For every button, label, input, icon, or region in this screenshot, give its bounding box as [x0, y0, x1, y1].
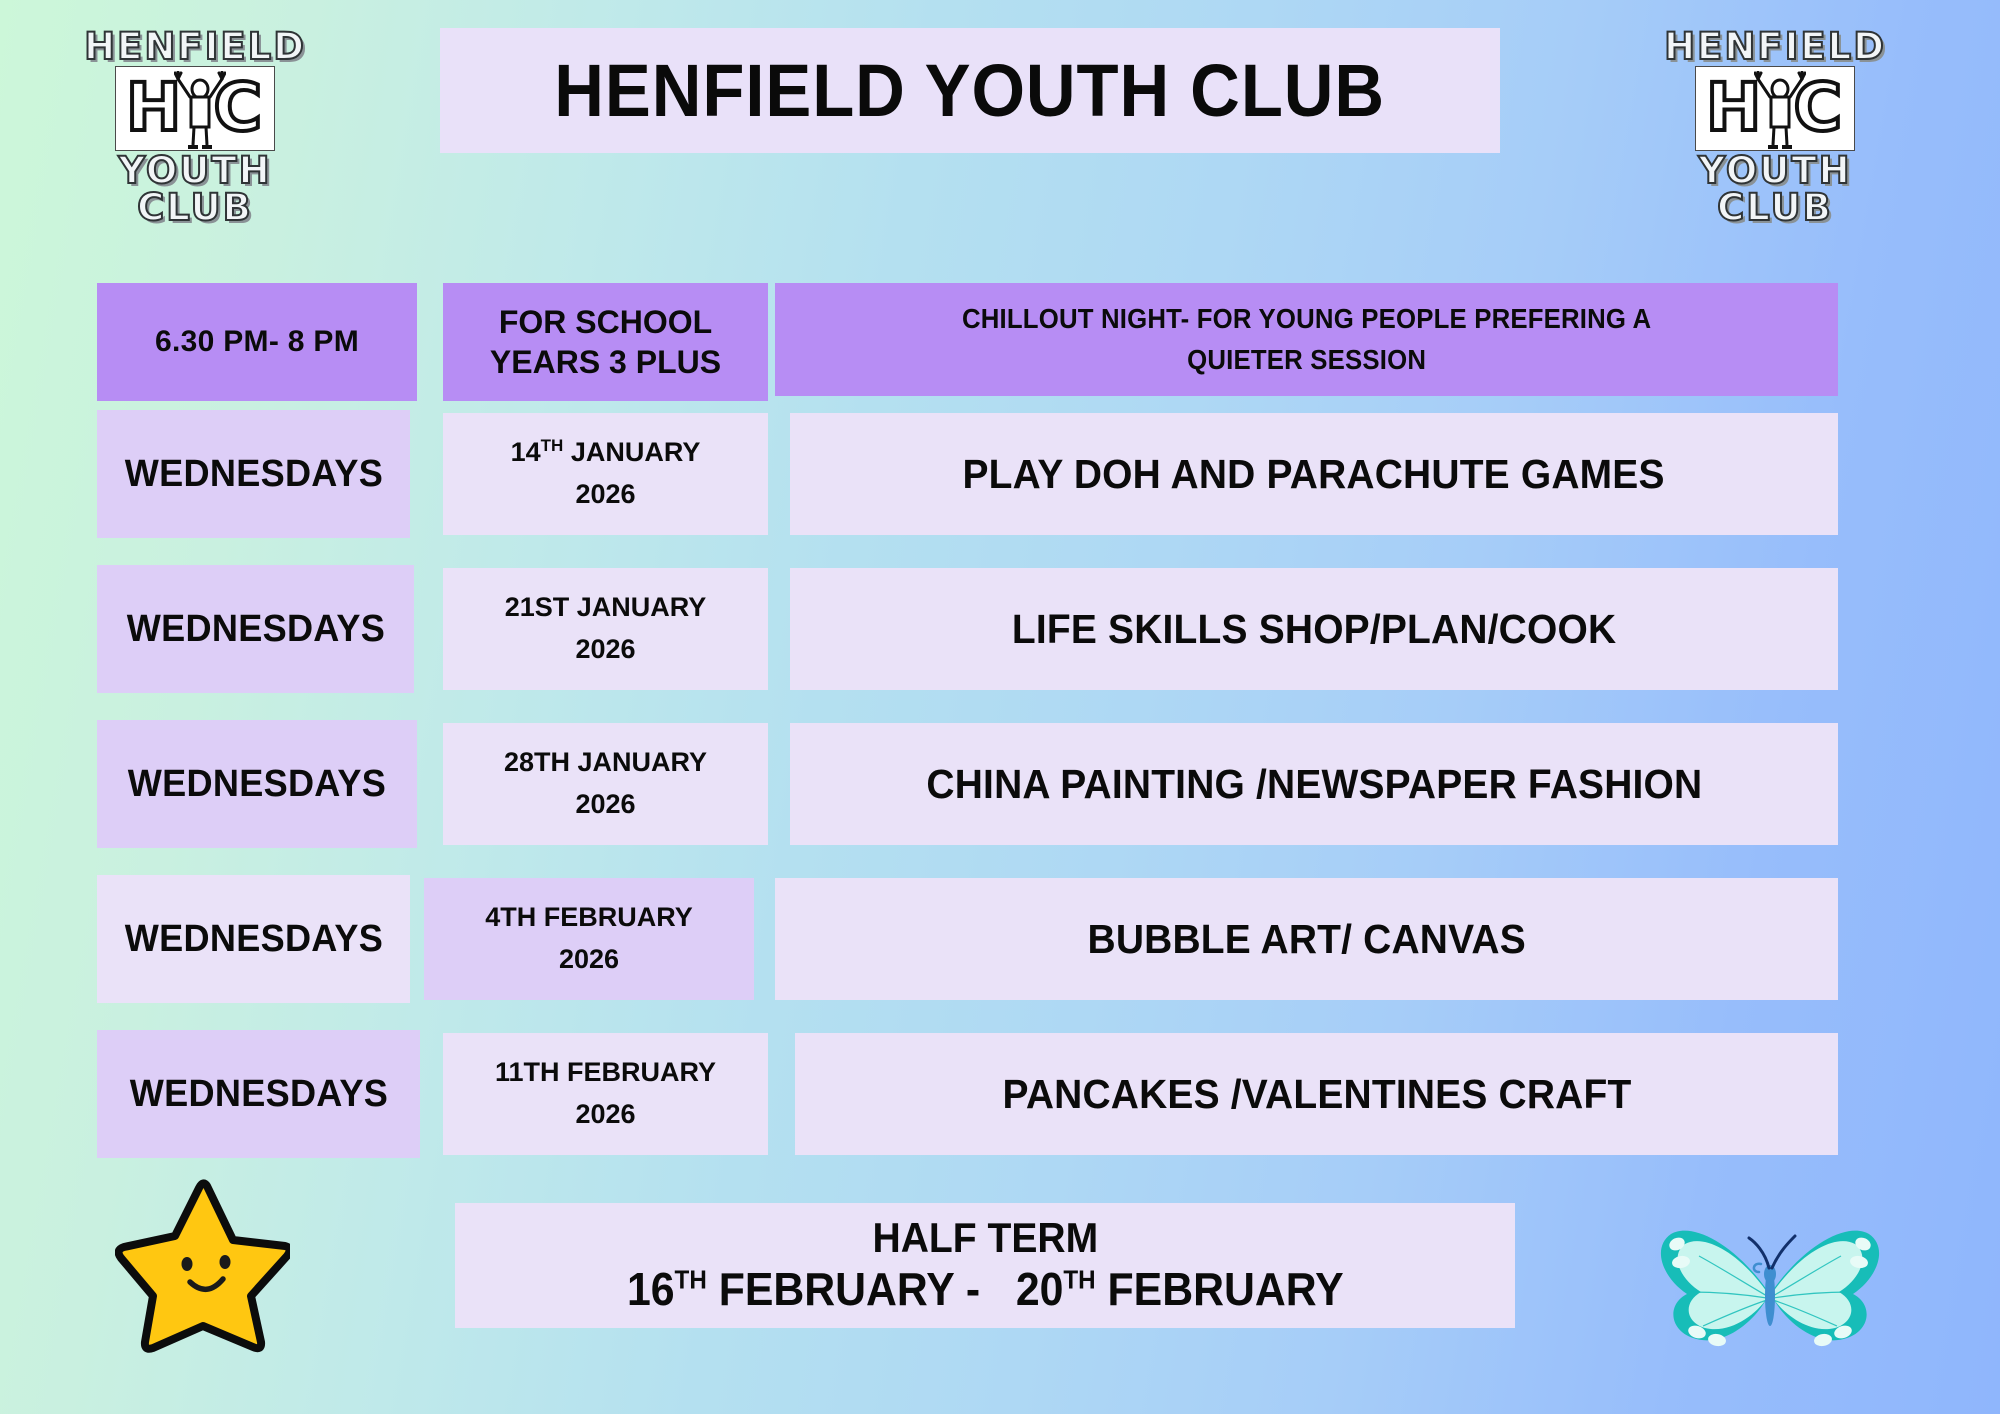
date-year: 2026	[575, 634, 635, 664]
page-title: HENFIELD YOUTH CLUB	[555, 48, 1386, 133]
activity-cell: LIFE SKILLS SHOP/PLAN/COOK	[790, 568, 1838, 690]
day-label: WEDNESDAYS	[126, 608, 384, 651]
person-cheering-icon	[1754, 71, 1806, 151]
table-row: WEDNESDAYS 21ST JANUARY2026 LIFE SKILLS …	[0, 563, 2000, 718]
day-cell: WEDNESDAYS	[97, 410, 410, 538]
table-row: WEDNESDAYS 4TH FEBRUARY2026 BUBBLE ART/ …	[0, 873, 2000, 1028]
activity-cell: PANCAKES /VALENTINES CRAFT	[795, 1033, 1838, 1155]
date-month: JANUARY	[563, 437, 700, 467]
chillout-note: CHILLOUT NIGHT- FOR YOUNG PEOPLE PREFERI…	[962, 299, 1651, 380]
half-term-start-month: FEBRUARY	[707, 1263, 954, 1315]
date-label: 11TH FEBRUARY2026	[495, 1052, 716, 1136]
chillout-note-line2: QUIETER SESSION	[1187, 344, 1426, 375]
logo-top-word: HENFIELD	[1650, 28, 1900, 65]
logo-bottom-word: YOUTH CLUB	[70, 152, 320, 226]
chillout-note-cell: CHILLOUT NIGHT- FOR YOUNG PEOPLE PREFERI…	[775, 283, 1838, 396]
activity-cell: CHINA PAINTING /NEWSPAPER FASHION	[790, 723, 1838, 845]
half-term-separator: -	[954, 1263, 1016, 1315]
half-term-end-day: 20	[1016, 1263, 1064, 1315]
table-row: WEDNESDAYS 14TH JANUARY2026 PLAY DOH AND…	[0, 408, 2000, 563]
date-month: FEBRUARY	[560, 1057, 717, 1087]
date-suffix: TH	[524, 1057, 560, 1087]
logo-letter-h: H	[1706, 75, 1761, 141]
half-term-end-month: FEBRUARY	[1095, 1263, 1343, 1315]
logo-right: HENFIELD H C YOUTH CLUB	[1650, 28, 1900, 226]
logo-letter-h: H	[126, 75, 181, 141]
logo-top-word: HENFIELD	[70, 28, 320, 65]
date-suffix: TH	[534, 747, 570, 777]
info-row: 6.30 PM- 8 PM FOR SCHOOL YEARS 3 PLUS CH…	[0, 283, 2000, 408]
date-label: 4TH FEBRUARY2026	[485, 897, 693, 981]
date-month: JANUARY	[569, 592, 706, 622]
half-term-heading: HALF TERM	[872, 1214, 1098, 1262]
date-year: 2026	[559, 944, 619, 974]
day-cell: WEDNESDAYS	[97, 875, 410, 1003]
date-day: 21	[505, 592, 535, 622]
date-suffix: TH	[541, 436, 564, 455]
logo-mark: H C	[1695, 66, 1855, 151]
date-label: 28TH JANUARY2026	[504, 742, 707, 826]
person-cheering-icon	[174, 71, 226, 151]
day-cell: WEDNESDAYS	[97, 565, 414, 693]
half-term-range: 16TH FEBRUARY - 20TH FEBRUARY	[627, 1262, 1344, 1317]
day-label: WEDNESDAYS	[124, 453, 382, 496]
chillout-note-line1: CHILLOUT NIGHT- FOR YOUNG PEOPLE PREFERI…	[962, 303, 1651, 334]
date-month: FEBRUARY	[536, 902, 693, 932]
activity-cell: PLAY DOH AND PARACHUTE GAMES	[790, 413, 1838, 535]
activity-label: BUBBLE ART/ CANVAS	[1087, 916, 1525, 963]
date-cell: 11TH FEBRUARY2026	[443, 1033, 768, 1155]
date-suffix: TH	[500, 902, 536, 932]
session-time-cell: 6.30 PM- 8 PM	[97, 283, 417, 401]
date-cell: 21ST JANUARY2026	[443, 568, 768, 690]
date-day: 11	[495, 1057, 524, 1087]
logo-bottom-word: YOUTH CLUB	[1650, 152, 1900, 226]
date-cell: 28TH JANUARY2026	[443, 723, 768, 845]
day-cell: WEDNESDAYS	[97, 1030, 420, 1158]
date-suffix: ST	[535, 592, 570, 622]
activity-label: PANCAKES /VALENTINES CRAFT	[1002, 1071, 1631, 1118]
schedule-table: 6.30 PM- 8 PM FOR SCHOOL YEARS 3 PLUS CH…	[0, 283, 2000, 1183]
title-banner: HENFIELD YOUTH CLUB	[440, 28, 1500, 153]
half-term-banner: HALF TERM 16TH FEBRUARY - 20TH FEBRUARY	[455, 1203, 1515, 1328]
age-range: FOR SCHOOL YEARS 3 PLUS	[443, 302, 768, 382]
day-label: WEDNESDAYS	[129, 1073, 387, 1116]
table-row: WEDNESDAYS 28TH JANUARY2026 CHINA PAINTI…	[0, 718, 2000, 873]
date-day: 28	[504, 747, 534, 777]
activity-cell: BUBBLE ART/ CANVAS	[775, 878, 1838, 1000]
half-term-start-day: 16	[627, 1263, 675, 1315]
date-year: 2026	[575, 1099, 635, 1129]
activity-label: PLAY DOH AND PARACHUTE GAMES	[963, 451, 1665, 498]
half-term-end-suffix: TH	[1063, 1265, 1095, 1295]
logo-left: HENFIELD H C YOUTH CLUB	[70, 28, 320, 226]
date-year: 2026	[575, 479, 635, 509]
date-year: 2026	[575, 789, 635, 819]
half-term-start-suffix: TH	[674, 1265, 706, 1295]
date-cell: 4TH FEBRUARY2026	[424, 878, 754, 1000]
date-month: JANUARY	[570, 747, 707, 777]
butterfly-icon	[1655, 1212, 1885, 1362]
smiling-star-icon	[115, 1178, 290, 1353]
session-time: 6.30 PM- 8 PM	[155, 325, 359, 359]
poster-header: HENFIELD H C YOUTH CLUB HENFIELD YOUTH C…	[0, 0, 2000, 210]
date-label: 14TH JANUARY2026	[511, 432, 701, 516]
day-cell: WEDNESDAYS	[97, 720, 417, 848]
activity-label: LIFE SKILLS SHOP/PLAN/COOK	[1012, 606, 1616, 653]
age-range-cell: FOR SCHOOL YEARS 3 PLUS	[443, 283, 768, 401]
logo-mark: H C	[115, 66, 275, 151]
date-cell: 14TH JANUARY2026	[443, 413, 768, 535]
activity-label: CHINA PAINTING /NEWSPAPER FASHION	[926, 761, 1702, 808]
date-day: 4	[485, 902, 500, 932]
day-label: WEDNESDAYS	[128, 763, 386, 806]
table-row: WEDNESDAYS 11TH FEBRUARY2026 PANCAKES /V…	[0, 1028, 2000, 1183]
date-day: 14	[511, 437, 541, 467]
date-label: 21ST JANUARY2026	[505, 587, 707, 671]
day-label: WEDNESDAYS	[124, 918, 382, 961]
